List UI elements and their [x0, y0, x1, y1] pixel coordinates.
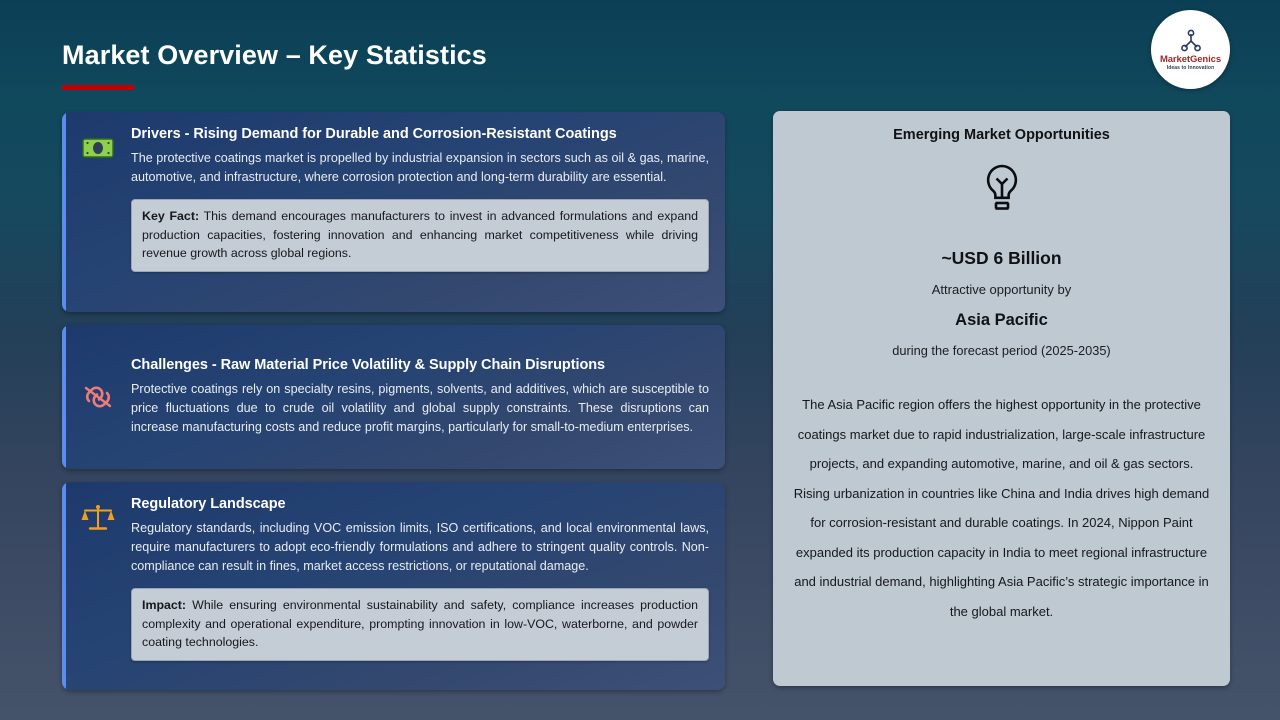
company-logo: MarketGenics Ideas to Innovation: [1151, 10, 1230, 89]
title-underline-rule: [62, 85, 134, 90]
logo-name: MarketGenics: [1160, 55, 1221, 65]
page-title: Market Overview – Key Statistics: [62, 40, 487, 71]
balance-scales-icon: [78, 498, 118, 538]
card-description: Protective coatings rely on specialty re…: [131, 380, 709, 437]
card-description: Regulatory standards, including VOC emis…: [131, 519, 709, 576]
card-challenges: Challenges - Raw Material Price Volatili…: [62, 325, 725, 469]
opportunity-figure: ~USD 6 Billion: [793, 248, 1210, 269]
card-drivers: Drivers - Rising Demand for Durable and …: [62, 112, 725, 312]
forecast-period: during the forecast period (2025-2035): [793, 343, 1210, 358]
callout-label: Key Fact:: [142, 209, 199, 223]
network-nodes-icon: [1178, 28, 1204, 55]
key-fact-callout: Key Fact: This demand encourages manufac…: [131, 199, 709, 272]
callout-text: While ensuring environmental sustainabil…: [142, 598, 698, 649]
opportunity-subtitle: Attractive opportunity by: [793, 282, 1210, 297]
statistics-card-list: Drivers - Rising Demand for Durable and …: [62, 112, 725, 703]
callout-label: Impact:: [142, 598, 186, 612]
emerging-opportunities-panel: Emerging Market Opportunities ~USD 6 Bil…: [773, 111, 1230, 686]
banknote-icon: [78, 128, 118, 168]
card-body: Challenges - Raw Material Price Volatili…: [131, 357, 709, 437]
opportunity-region: Asia Pacific: [793, 311, 1210, 330]
card-heading: Challenges - Raw Material Price Volatili…: [131, 357, 709, 373]
card-description: The protective coatings market is propel…: [131, 149, 709, 187]
impact-callout: Impact: While ensuring environmental sus…: [131, 588, 709, 661]
card-body: Drivers - Rising Demand for Durable and …: [131, 126, 709, 298]
broken-link-icon: [78, 377, 118, 417]
panel-paragraph: The Asia Pacific region offers the highe…: [793, 390, 1210, 626]
lightbulb-icon: [974, 160, 1030, 216]
card-regulatory: Regulatory Landscape Regulatory standard…: [62, 482, 725, 690]
panel-title: Emerging Market Opportunities: [793, 127, 1210, 143]
card-heading: Regulatory Landscape: [131, 496, 709, 512]
logo-tagline: Ideas to Innovation: [1167, 65, 1214, 71]
card-body: Regulatory Landscape Regulatory standard…: [131, 496, 709, 676]
card-heading: Drivers - Rising Demand for Durable and …: [131, 126, 709, 142]
callout-text: This demand encourages manufacturers to …: [142, 209, 698, 260]
